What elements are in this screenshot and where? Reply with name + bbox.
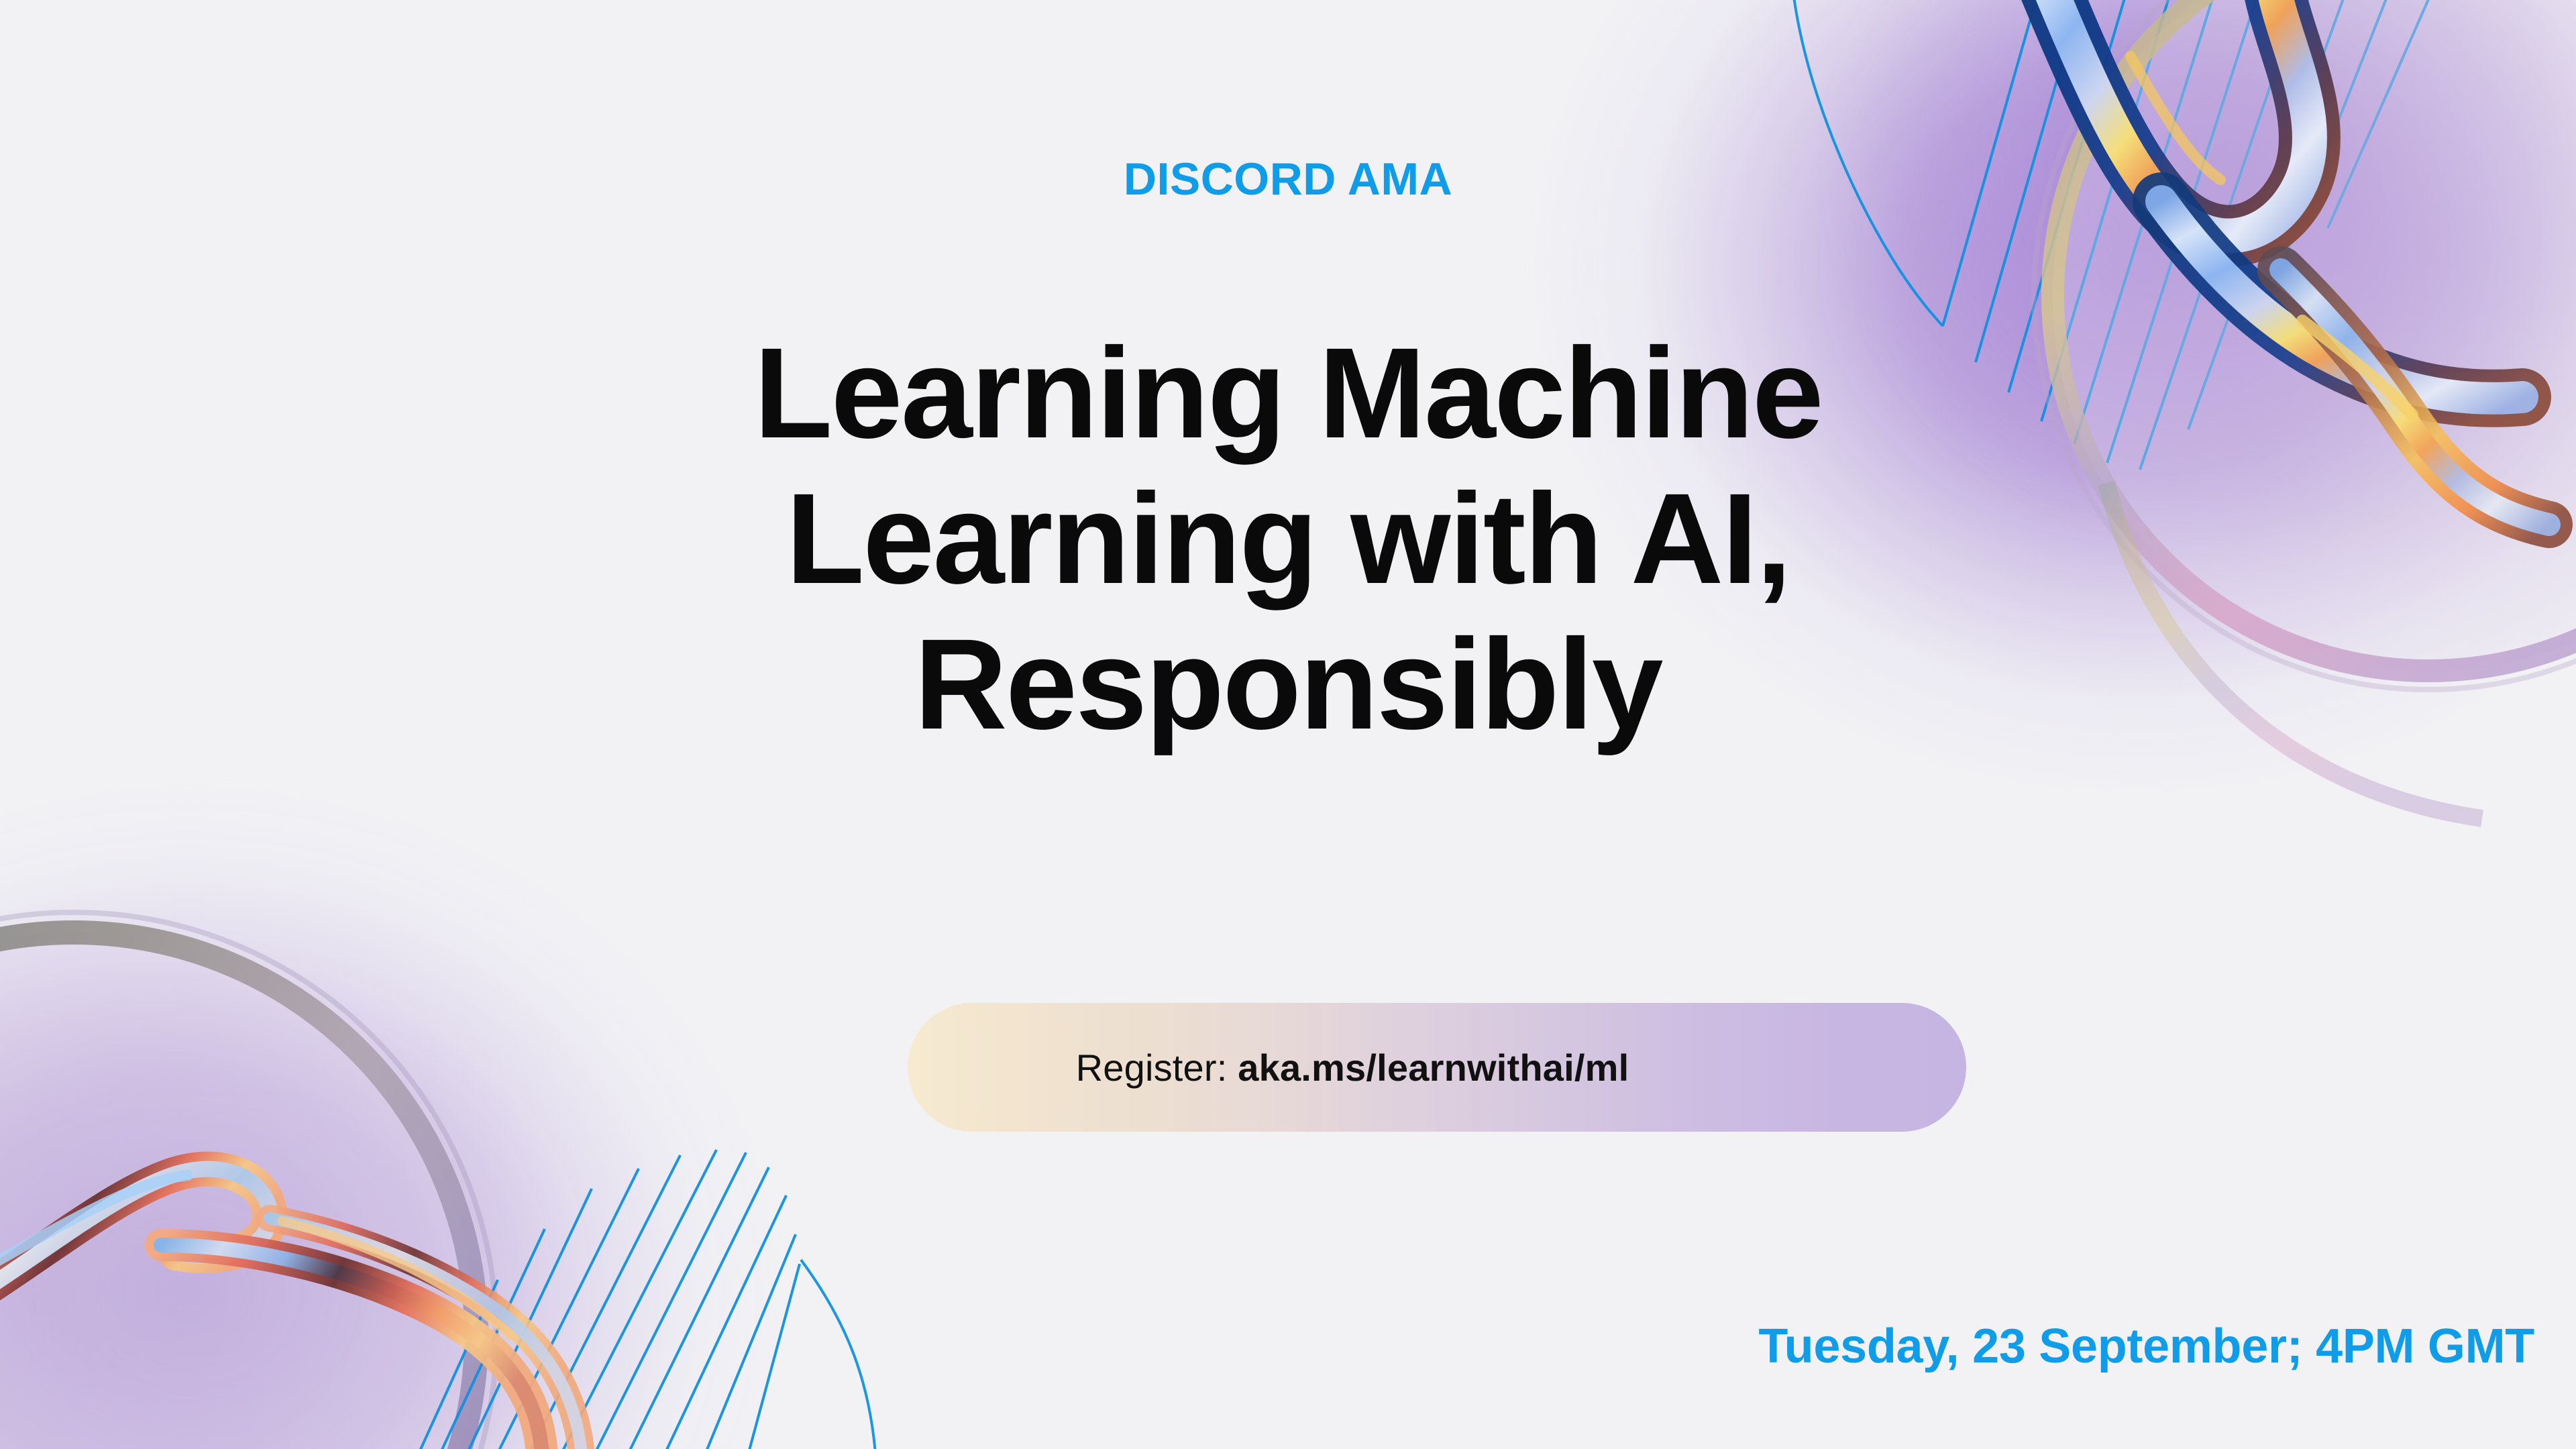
headline-line-1: Learning Machine [0,321,2576,466]
event-datetime: Tuesday, 23 September; 4PM GMT [1758,1319,2534,1374]
register-label: Register: [1076,1046,1238,1089]
register-text: Register: aka.ms/learnwithai/ml [1076,1046,1629,1089]
headline-line-3: Responsibly [0,612,2576,757]
eyebrow-label: DISCORD AMA [0,153,2576,205]
page-title: Learning Machine Learning with AI, Respo… [0,321,2576,757]
register-url[interactable]: aka.ms/learnwithai/ml [1238,1046,1629,1089]
register-button[interactable]: Register: aka.ms/learnwithai/ml [908,1003,1966,1132]
promo-banner: DISCORD AMA Learning Machine Learning wi… [0,0,2576,1449]
headline-line-2: Learning with AI, [0,466,2576,612]
